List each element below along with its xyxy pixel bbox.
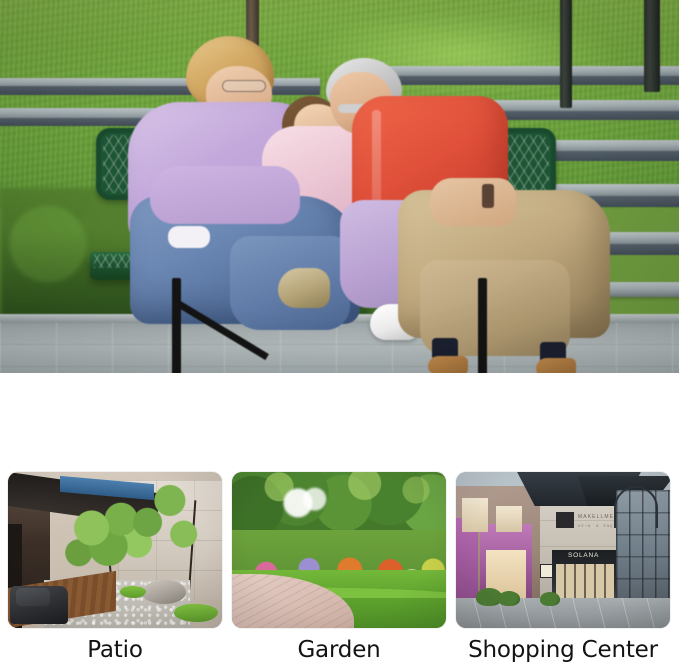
patio-moss-patch [174, 604, 218, 622]
man-forearm [430, 178, 516, 226]
woman-shoe [278, 268, 330, 308]
eyeglasses-icon [222, 80, 266, 92]
shopping-display-window [496, 506, 522, 532]
shopping-brand-subtitle: é©¬å å©å§ [578, 522, 617, 529]
headline-band: Widely Used In Different Scenarios [0, 373, 679, 472]
scenario-gallery: Patio Garden [0, 472, 679, 670]
man-shoe [428, 356, 468, 373]
shopping-shrub [540, 592, 560, 606]
shopping-store-sign: SOLANA [568, 552, 599, 559]
shopping-brand-name: MAKELLMER [578, 514, 619, 520]
lamp-post [644, 0, 660, 92]
woman-sleeve-cuff [168, 226, 210, 248]
hero-scene [0, 0, 679, 373]
scenario-image-shopping-center[interactable]: MAKELLMER é©¬å å©å§ SOLANA [456, 472, 670, 628]
man-shoe [536, 358, 576, 373]
scenario-card-patio[interactable]: Patio [8, 472, 222, 665]
patio-tree-foliage [120, 482, 206, 566]
bench-leg [478, 278, 487, 373]
scenario-label-patio: Patio [8, 635, 222, 665]
shopping-display-window [462, 498, 488, 532]
scenario-card-shopping-center[interactable]: MAKELLMER é©¬å å©å§ SOLANA Shopping C… [456, 472, 670, 665]
patio-lounge-cushion [16, 588, 50, 606]
scenario-image-garden[interactable] [232, 472, 446, 628]
scenario-image-patio[interactable] [8, 472, 222, 628]
hero-image [0, 0, 679, 373]
woman-arm [150, 166, 300, 224]
stone-step-riser [360, 76, 679, 85]
shopping-brand-mark [556, 512, 574, 528]
wristwatch-icon [482, 184, 494, 208]
shopping-sign-badge [540, 564, 553, 578]
scenario-label-shopping-center: Shopping Center [456, 635, 670, 665]
lamp-post [560, 0, 572, 108]
patio-rock [142, 580, 186, 604]
shopping-arched-frame [614, 486, 658, 528]
scenario-card-garden[interactable]: Garden [232, 472, 446, 665]
product-feature-page: Widely Used In Different Scenarios [0, 0, 679, 670]
garden-white-blossom-tree [274, 484, 334, 526]
patio-moss-patch [120, 586, 146, 598]
bench-leg [172, 278, 181, 373]
scenario-label-garden: Garden [232, 635, 446, 665]
shopping-shrub [498, 591, 520, 606]
